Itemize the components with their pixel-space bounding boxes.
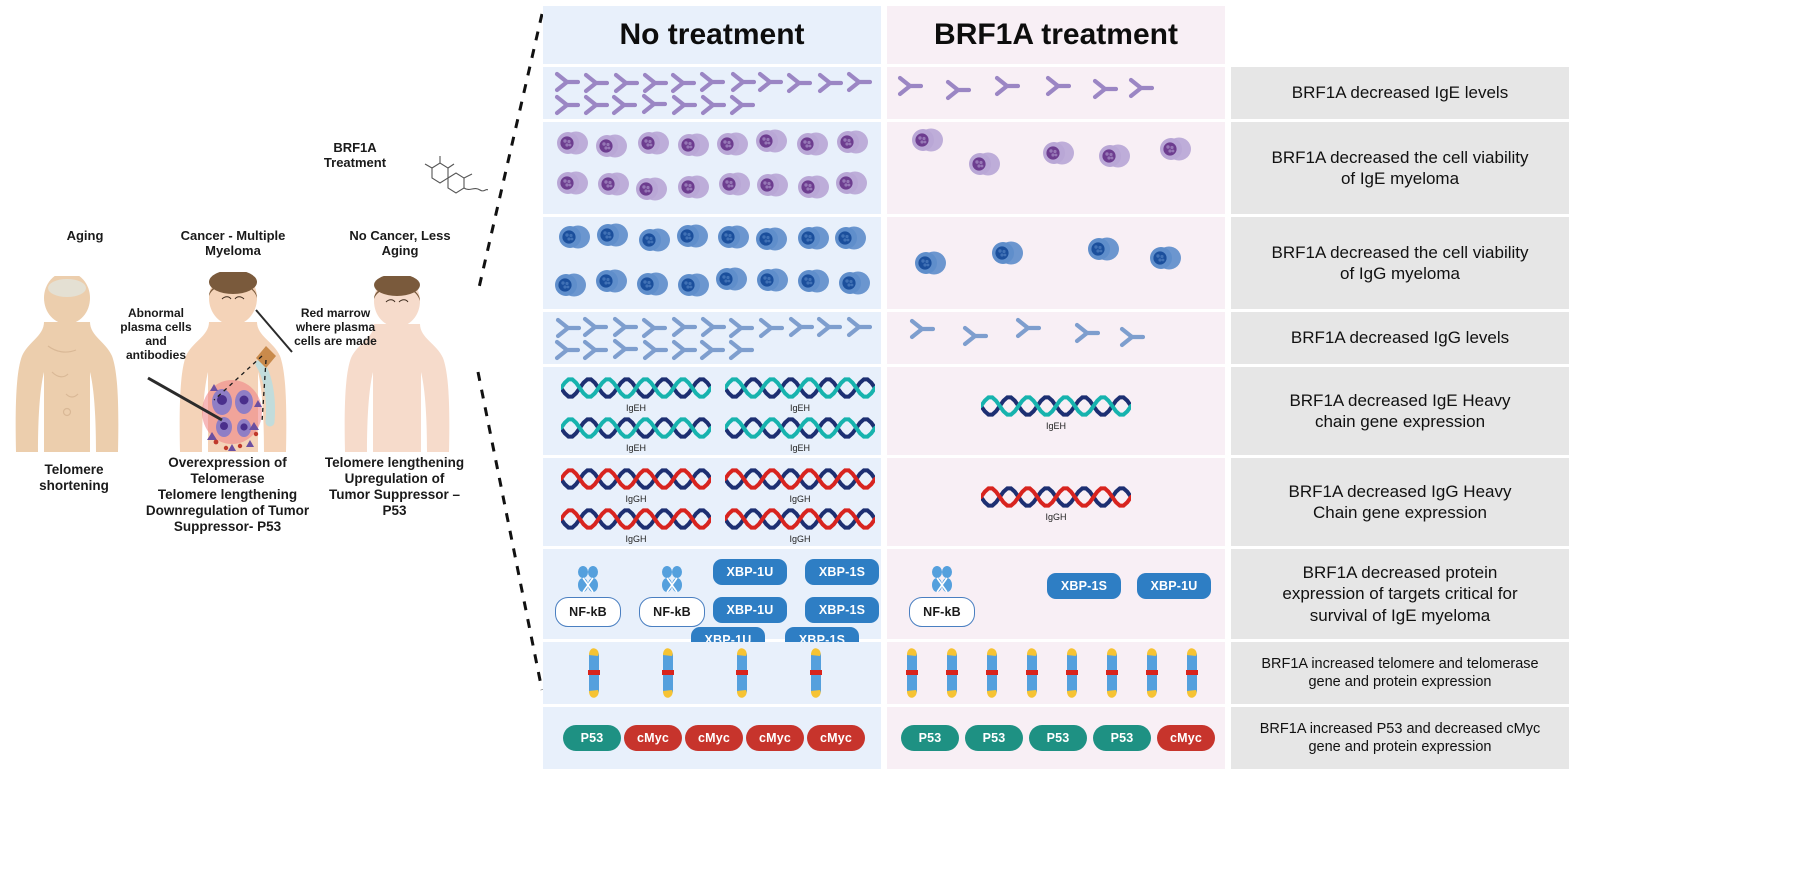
dna-gene-label: IgGH [725,494,875,504]
grid-row-p53-cmyc: P53cMyccMyccMyccMycP53P53P53P53cMycBRF1A… [543,707,1817,769]
chromosome-icon [1023,645,1039,699]
description-protein-targets: BRF1A decreased protein expression of ta… [1231,549,1569,639]
chromosome-icon [585,645,601,699]
brf1a-treatment-label: BRF1A Treatment [300,140,410,171]
protein-pill-xbp1s: XBP-1S [805,559,879,585]
grid-row-telomere-chromosome: BRF1A increased telomere and telomerase … [543,642,1817,704]
dna-helix-iggh: IgGH [725,466,875,504]
protein-pill-xbp1u: XBP-1U [1137,573,1211,599]
grid-row-igg-levels: BRF1A decreased IgG levels [543,312,1817,364]
callout-abnormal-plasma-cells: Abnormal plasma cells and antibodies [110,306,202,363]
outcome-label-aging: Telomere shortening [14,462,134,494]
dna-helix-igeh: IgEH [561,375,711,413]
protein-pill-xbp1s: XBP-1S [1047,573,1121,599]
cell-untreated-ige-levels [543,67,881,119]
cell-untreated-igg-myeloma-viability [543,217,881,309]
dna-gene-label: IgGH [561,494,711,504]
grid-row-igeh-gene: IgEHIgEHIgEHIgEHIgEHBRF1A decreased IgE … [543,367,1817,455]
marker-pill-cmyc: cMyc [807,725,865,751]
dna-helix-igeh: IgEH [561,415,711,453]
description-p53-cmyc: BRF1A increased P53 and decreased cMyc g… [1231,707,1569,769]
cell-untreated-protein-targets: NF-kB NF-kB XBP-1UXBP-1UXBP-1UXBP-1SXBP-… [543,549,881,639]
dna-gene-label: IgGH [981,512,1131,522]
dna-gene-label: IgEH [561,403,711,413]
protein-pill-nfkb: NF-kB [555,597,621,627]
stage-label-aging: Aging [30,228,140,243]
marker-pill-p53: P53 [965,725,1023,751]
chromosome-icon [943,645,959,699]
marker-pill-cmyc: cMyc [624,725,682,751]
protein-pill-xbp1u: XBP-1U [713,597,787,623]
nfkb-protein-icon [573,565,603,599]
marker-pill-p53: P53 [1029,725,1087,751]
dna-helix-iggh: IgGH [561,506,711,544]
protein-pill-nfkb: NF-kB [639,597,705,627]
description-telomere-chromosome: BRF1A increased telomere and telomerase … [1231,642,1569,704]
cell-treated-igeh-gene: IgEH [887,367,1225,455]
grid-row-protein-targets: NF-kB NF-kB XBP-1UXBP-1UXBP-1UXBP-1SXBP-… [543,549,1817,639]
cell-treated-telomere-chromosome [887,642,1225,704]
marker-pill-cmyc: cMyc [746,725,804,751]
chromosome-icon [659,645,675,699]
dna-gene-label: IgEH [725,443,875,453]
marker-pill-p53: P53 [901,725,959,751]
dna-helix-igeh: IgEH [981,393,1131,431]
cell-treated-igg-levels [887,312,1225,364]
grid-row-igg-myeloma-viability: BRF1A decreased the cell viability of Ig… [543,217,1817,309]
dna-gene-label: IgEH [561,443,711,453]
cell-untreated-iggh-gene: IgGHIgGHIgGHIgGH [543,458,881,546]
cancer-person-icon [170,272,296,458]
chromosome-icon [1143,645,1159,699]
cell-untreated-igg-levels [543,312,881,364]
callout-red-marrow: Red marrow where plasma cells are made [288,306,383,348]
column-header-description-spacer [1231,6,1569,64]
comparison-grid: No treatment BRF1A treatment [543,6,1817,868]
treated-person-icon [336,276,458,458]
column-header-untreated: No treatment [543,6,881,64]
grid-header-row: No treatment BRF1A treatment [543,6,1817,64]
description-ige-myeloma-viability: BRF1A decreased the cell viability of Ig… [1231,122,1569,214]
cell-untreated-igeh-gene: IgEHIgEHIgEHIgEH [543,367,881,455]
chromosome-icon [983,645,999,699]
chromosome-icon [807,645,823,699]
protein-pill-xbp1u: XBP-1U [713,559,787,585]
grid-rows: BRF1A decreased IgE levels [543,67,1817,769]
protein-pill-xbp1s: XBP-1S [805,597,879,623]
aging-person-icon [8,276,126,458]
marker-pill-cmyc: cMyc [685,725,743,751]
cell-treated-ige-levels [887,67,1225,119]
stage-label-no-cancer: No Cancer, Less Aging [345,228,455,259]
cell-untreated-ige-myeloma-viability [543,122,881,214]
cell-treated-iggh-gene: IgGH [887,458,1225,546]
cell-treated-igg-myeloma-viability [887,217,1225,309]
cell-treated-protein-targets: NF-kB XBP-1SXBP-1U [887,549,1225,639]
dna-helix-igeh: IgEH [725,375,875,413]
nfkb-protein-icon [927,565,957,599]
dna-gene-label: IgEH [981,421,1131,431]
marker-pill-cmyc: cMyc [1157,725,1215,751]
description-iggh-gene: BRF1A decreased IgG Heavy Chain gene exp… [1231,458,1569,546]
dna-helix-igeh: IgEH [725,415,875,453]
stage-label-cancer: Cancer - Multiple Myeloma [168,228,298,259]
grid-row-iggh-gene: IgGHIgGHIgGHIgGHIgGHBRF1A decreased IgG … [543,458,1817,546]
dna-helix-iggh: IgGH [561,466,711,504]
column-header-treated: BRF1A treatment [887,6,1225,64]
outcome-label-myeloma: Overexpression of Telomerase Telomere le… [140,455,315,535]
cell-treated-ige-myeloma-viability [887,122,1225,214]
chromosome-icon [903,645,919,699]
description-igg-levels: BRF1A decreased IgG levels [1231,312,1569,364]
description-ige-levels: BRF1A decreased IgE levels [1231,67,1569,119]
marker-pill-p53: P53 [563,725,621,751]
grid-row-ige-levels: BRF1A decreased IgE levels [543,67,1817,119]
chromosome-icon [733,645,749,699]
dna-helix-iggh: IgGH [981,484,1131,522]
description-igeh-gene: BRF1A decreased IgE Heavy chain gene exp… [1231,367,1569,455]
nfkb-protein-icon [657,565,687,599]
outcome-label-treated: Telomere lengthening Upregulation of Tum… [312,455,477,519]
dna-helix-iggh: IgGH [725,506,875,544]
grid-row-ige-myeloma-viability: BRF1A decreased the cell viability of Ig… [543,122,1817,214]
marker-pill-p53: P53 [1093,725,1151,751]
dna-gene-label: IgEH [725,403,875,413]
left-illustration-panel: BRF1A Treatment Aging Cancer - Multiple … [0,0,540,874]
chromosome-icon [1063,645,1079,699]
dna-gene-label: IgGH [725,534,875,544]
dna-gene-label: IgGH [561,534,711,544]
chromosome-icon [1183,645,1199,699]
chromosome-icon [1103,645,1119,699]
cell-untreated-p53-cmyc: P53cMyccMyccMyccMyc [543,707,881,769]
description-igg-myeloma-viability: BRF1A decreased the cell viability of Ig… [1231,217,1569,309]
protein-pill-nfkb: NF-kB [909,597,975,627]
cell-treated-p53-cmyc: P53P53P53P53cMyc [887,707,1225,769]
cell-untreated-telomere-chromosome [543,642,881,704]
dashed-expander-lines [470,0,550,874]
